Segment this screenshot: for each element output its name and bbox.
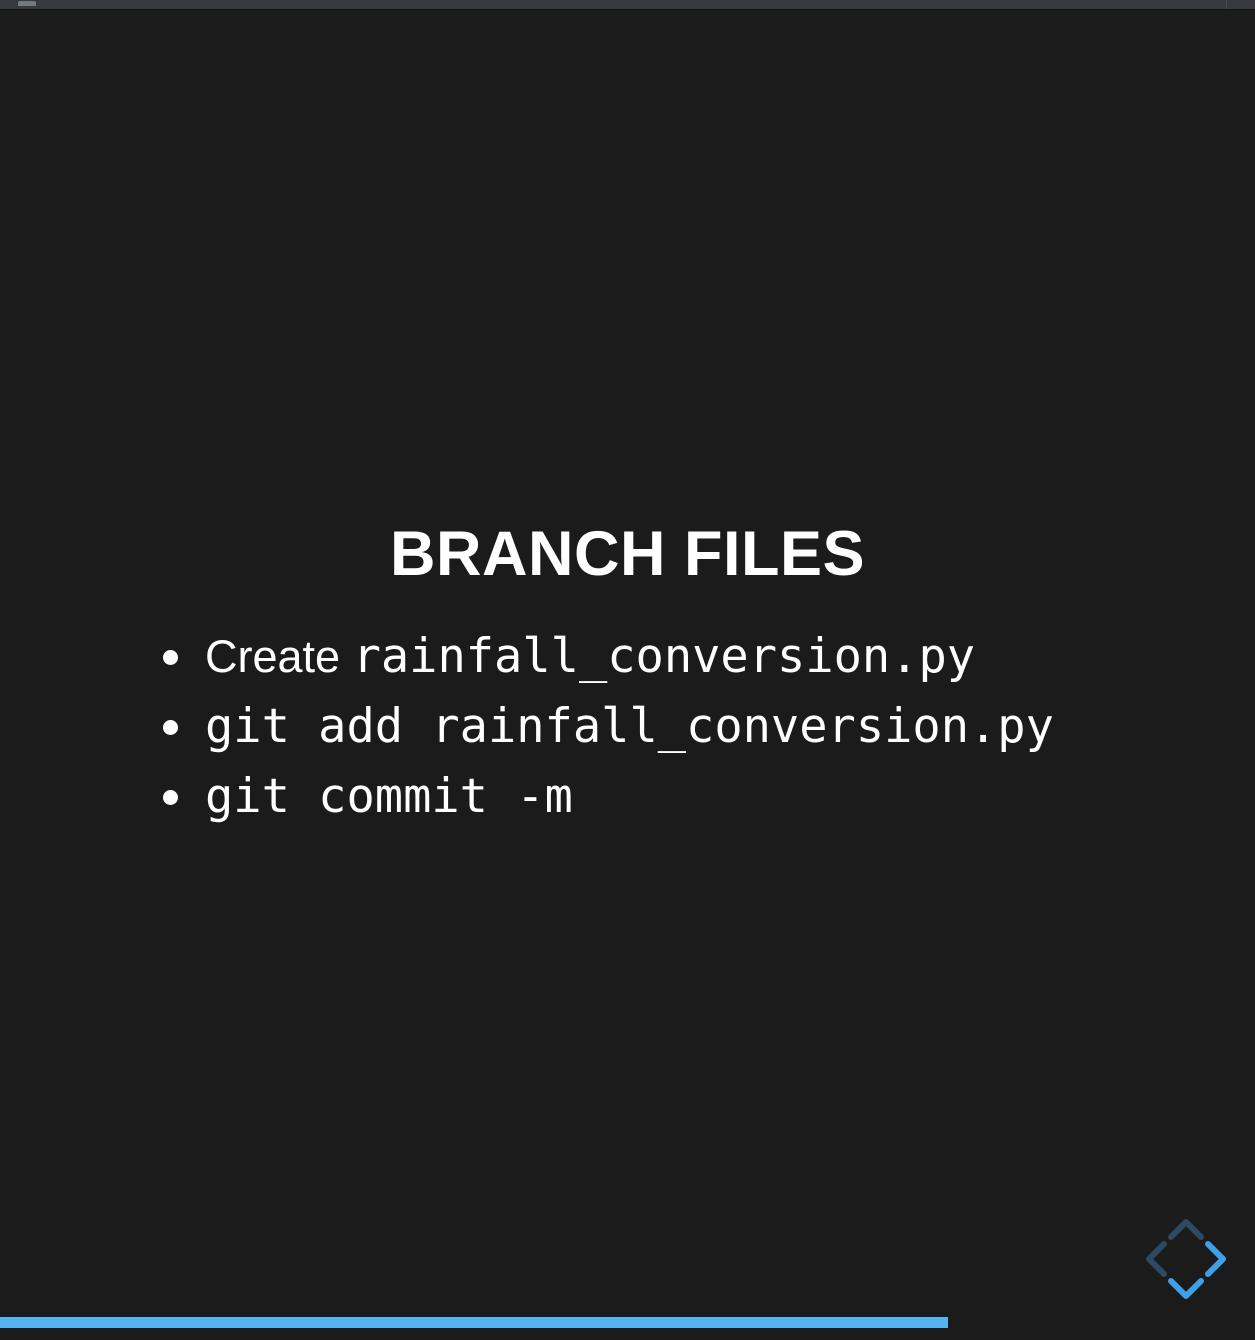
list-item: git commit -m bbox=[150, 762, 1240, 832]
bullet-dot-icon bbox=[163, 720, 178, 735]
slide-progress-fill bbox=[0, 1317, 948, 1328]
slide-progress-track[interactable] bbox=[0, 1317, 1255, 1328]
list-item-text: Create bbox=[205, 631, 353, 682]
presentation-window: BRANCH FILES Create rainfall_conversion.… bbox=[0, 0, 1255, 1340]
list-item-text: rainfall_conversion.py bbox=[353, 629, 976, 684]
list-item: git add rainfall_conversion.py bbox=[150, 692, 1240, 762]
list-item-text: git commit -m bbox=[205, 769, 573, 824]
slide-surface: BRANCH FILES Create rainfall_conversion.… bbox=[0, 10, 1255, 1328]
list-item: Create rainfall_conversion.py bbox=[150, 622, 1240, 692]
bullet-dot-icon bbox=[163, 790, 178, 805]
nav-down-icon[interactable] bbox=[1171, 1281, 1201, 1296]
slide-navigation-diamond[interactable] bbox=[1135, 1208, 1237, 1310]
chrome-divider bbox=[1226, 0, 1227, 9]
slide-bullet-list: Create rainfall_conversion.pygit add rai… bbox=[150, 622, 1240, 832]
nav-left-icon[interactable] bbox=[1149, 1244, 1164, 1274]
nav-right-icon[interactable] bbox=[1208, 1244, 1223, 1274]
browser-chrome-strip bbox=[0, 0, 1255, 10]
bullet-dot-icon bbox=[163, 650, 178, 665]
slide-title: BRANCH FILES bbox=[0, 523, 1255, 586]
browser-tab-stub[interactable] bbox=[18, 1, 36, 6]
list-item-text: git add rainfall_conversion.py bbox=[205, 699, 1054, 754]
nav-up-icon[interactable] bbox=[1171, 1222, 1201, 1237]
